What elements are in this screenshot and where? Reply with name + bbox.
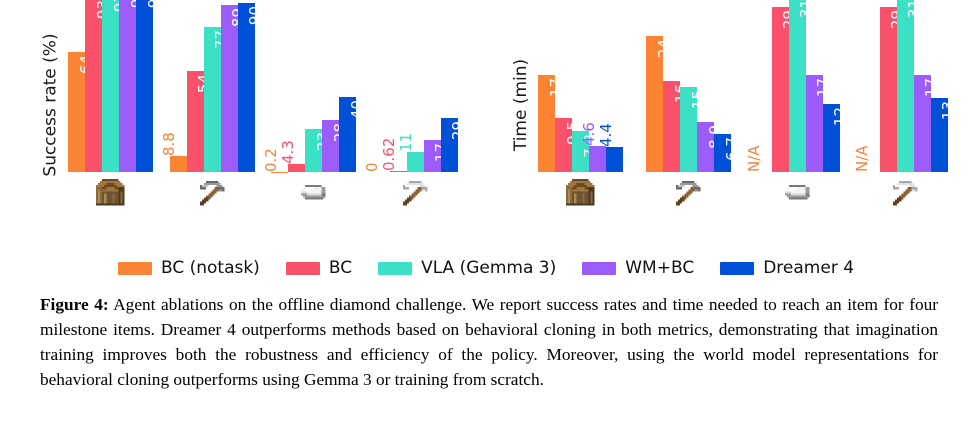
legend-swatch bbox=[720, 262, 754, 275]
bar-rect: 90 bbox=[238, 3, 255, 172]
bar-rect: 97 bbox=[102, 0, 119, 172]
legend-label: Dreamer 4 bbox=[763, 258, 854, 278]
bar-dreamer-4[interactable]: 12 bbox=[823, 0, 840, 172]
bar-rect: 11 bbox=[407, 152, 424, 173]
bar-group-bars: N/A29311712 bbox=[755, 0, 840, 172]
bar-rect: 54 bbox=[187, 71, 204, 173]
bar-vla-gemma-3-[interactable]: 15 bbox=[680, 0, 697, 172]
bar-bc[interactable]: 54 bbox=[187, 0, 204, 172]
bar-rect: 99 bbox=[119, 0, 136, 172]
bar-group-iron-pickaxe: N/A29311713 bbox=[863, 8, 948, 210]
bar-rect: 93 bbox=[85, 0, 102, 172]
bar-rect: 17 bbox=[424, 140, 441, 172]
time-chart: Time (min) 179.57.24.64.42416158.96.7N/A… bbox=[508, 0, 948, 250]
bar-rect: 89 bbox=[221, 5, 238, 172]
bar-group-bars: N/A29311713 bbox=[863, 0, 948, 172]
bar-rect: 4.3 bbox=[288, 164, 305, 172]
bar-rect: 0.62 bbox=[390, 171, 407, 172]
bar-group-bars: 0.24.3232840 bbox=[271, 0, 356, 172]
bar-vla-gemma-3-[interactable]: 11 bbox=[407, 0, 424, 172]
bar-bc[interactable]: 4.3 bbox=[288, 0, 305, 172]
bar-dreamer-4[interactable]: 13 bbox=[931, 0, 948, 172]
bar-group-iron-ingot: N/A29311712 bbox=[755, 8, 840, 210]
iron-pickaxe-icon bbox=[399, 177, 432, 210]
success-rate-chart: Success rate (%) 64939799998.8547789900.… bbox=[38, 0, 458, 250]
legend-label: VLA (Gemma 3) bbox=[421, 258, 556, 278]
bar-wm-bc[interactable]: 8.9 bbox=[697, 0, 714, 172]
figure-caption-text: Agent ablations on the offline diamond c… bbox=[40, 295, 938, 389]
bar-rect: 24 bbox=[646, 36, 663, 173]
bar-dreamer-4[interactable]: 29 bbox=[441, 0, 458, 172]
bar-vla-gemma-3-[interactable]: 31 bbox=[897, 0, 914, 172]
legend-item-bc-notask-[interactable]: BC (notask) bbox=[118, 258, 260, 278]
bar-rect: 4.4 bbox=[606, 147, 623, 172]
legend-swatch bbox=[286, 262, 320, 275]
bar-wm-bc[interactable]: 17 bbox=[806, 0, 823, 172]
bar-group-bars: 2416158.96.7 bbox=[646, 0, 731, 172]
bar-group-log: 179.57.24.64.4 bbox=[538, 8, 623, 210]
bar-value-label: 13 bbox=[939, 101, 957, 120]
legend-swatch bbox=[118, 262, 152, 275]
bar-rect: 23 bbox=[305, 129, 322, 172]
bar-value-label: N/A bbox=[745, 146, 763, 173]
bar-rect: 17 bbox=[538, 75, 555, 172]
iron-pickaxe-icon bbox=[889, 177, 922, 210]
bar-wm-bc[interactable]: 89 bbox=[221, 0, 238, 172]
figure-label: Figure 4: bbox=[40, 295, 109, 314]
bar-wm-bc[interactable]: 28 bbox=[322, 0, 339, 172]
bar-wm-bc[interactable]: 17 bbox=[914, 0, 931, 172]
bar-rect: 28 bbox=[322, 120, 339, 173]
bar-rect: 13 bbox=[931, 98, 948, 172]
bar-group-stone-pickaxe: 2416158.96.7 bbox=[646, 8, 731, 210]
bar-rect: 17 bbox=[914, 75, 931, 172]
bar-value-label: 4.4 bbox=[597, 123, 615, 147]
legend-item-dreamer-4[interactable]: Dreamer 4 bbox=[720, 258, 854, 278]
bar-group-bars: 00.62111729 bbox=[373, 0, 458, 172]
legend-swatch bbox=[378, 262, 412, 275]
bar-rect: 29 bbox=[772, 7, 789, 172]
success-rate-y-axis-label: Success rate (%) bbox=[38, 0, 64, 210]
bar-value-label: 0 bbox=[363, 163, 381, 173]
legend-item-bc[interactable]: BC bbox=[286, 258, 352, 278]
bar-value-label: 4.6 bbox=[580, 122, 598, 146]
bar-group-iron-ingot: 0.24.3232840 bbox=[271, 8, 356, 210]
bar-bc-notask-[interactable]: 17 bbox=[538, 0, 555, 172]
bar-vla-gemma-3-[interactable]: 23 bbox=[305, 0, 322, 172]
bar-group-bars: 6493979999 bbox=[68, 0, 153, 172]
bar-rect: 77 bbox=[204, 27, 221, 172]
bar-rect: 12 bbox=[823, 104, 840, 172]
bar-dreamer-4[interactable]: 6.7 bbox=[714, 0, 731, 172]
bar-bc-notask-[interactable]: N/A bbox=[755, 0, 772, 172]
bar-group-bars: 179.57.24.64.4 bbox=[538, 0, 623, 172]
bar-rect: 8.9 bbox=[697, 122, 714, 173]
log-icon bbox=[564, 177, 597, 210]
bar-dreamer-4[interactable]: 40 bbox=[339, 0, 356, 172]
time-groups: 179.57.24.64.42416158.96.7N/A29311712N/A… bbox=[538, 8, 948, 210]
iron-ingot-icon bbox=[297, 177, 330, 210]
figure-caption: Figure 4: Agent ablations on the offline… bbox=[40, 292, 938, 392]
bar-rect: 29 bbox=[880, 7, 897, 172]
bar-value-label: 40 bbox=[348, 100, 366, 119]
bar-rect: 99 bbox=[136, 0, 153, 172]
chart-legend: BC (notask)BCVLA (Gemma 3)WM+BCDreamer 4 bbox=[0, 252, 972, 284]
bar-value-label: N/A bbox=[853, 146, 871, 173]
log-icon bbox=[94, 177, 127, 210]
bar-rect: 6.7 bbox=[714, 134, 731, 172]
bar-value-label: 4.3 bbox=[279, 140, 297, 164]
bar-dreamer-4[interactable]: 99 bbox=[136, 0, 153, 172]
legend-label: BC bbox=[329, 258, 352, 278]
bar-rect: 8.8 bbox=[170, 156, 187, 173]
bar-group-bars: 8.854778990 bbox=[170, 0, 255, 172]
bar-rect: 29 bbox=[441, 118, 458, 173]
bar-bc[interactable]: 93 bbox=[85, 0, 102, 172]
bar-bc-notask-[interactable]: 64 bbox=[68, 0, 85, 172]
legend-label: BC (notask) bbox=[161, 258, 260, 278]
success-rate-groups: 64939799998.8547789900.24.323284000.6211… bbox=[68, 8, 458, 210]
bar-bc-notask-[interactable]: N/A bbox=[863, 0, 880, 172]
bar-group-iron-pickaxe: 00.62111729 bbox=[373, 8, 458, 210]
bar-rect: 17 bbox=[806, 75, 823, 172]
iron-ingot-icon bbox=[781, 177, 814, 210]
bar-value-label: 29 bbox=[449, 121, 467, 140]
bar-rect: 9.5 bbox=[555, 118, 572, 172]
bar-dreamer-4[interactable]: 4.4 bbox=[606, 0, 623, 172]
bar-wm-bc[interactable]: 17 bbox=[424, 0, 441, 172]
bar-value-label: 90 bbox=[246, 6, 264, 25]
bar-bc[interactable]: 29 bbox=[772, 0, 789, 172]
legend-swatch bbox=[582, 262, 616, 275]
bar-bc[interactable]: 29 bbox=[880, 0, 897, 172]
bar-vla-gemma-3-[interactable]: 77 bbox=[204, 0, 221, 172]
bar-value-label: 99 bbox=[145, 0, 163, 8]
bar-rect: 64 bbox=[68, 52, 85, 172]
bar-bc[interactable]: 16 bbox=[663, 0, 680, 172]
bar-bc-notask-[interactable]: 24 bbox=[646, 0, 663, 172]
bar-vla-gemma-3-[interactable]: 31 bbox=[789, 0, 806, 172]
bar-rect: 16 bbox=[663, 81, 680, 172]
legend-item-wm-bc[interactable]: WM+BC bbox=[582, 258, 694, 278]
bar-wm-bc[interactable]: 99 bbox=[119, 0, 136, 172]
bar-value-label: 12 bbox=[831, 107, 849, 126]
figure-4: Success rate (%) 64939799998.8547789900.… bbox=[0, 0, 972, 444]
bar-rect: 4.6 bbox=[589, 146, 606, 172]
bar-group-log: 6493979999 bbox=[68, 8, 153, 210]
bar-value-label: 0.62 bbox=[380, 138, 398, 171]
bar-value-label: 8.8 bbox=[160, 132, 178, 156]
bar-bc[interactable]: 9.5 bbox=[555, 0, 572, 172]
bar-value-label: 0.2 bbox=[262, 148, 280, 172]
bar-bc-notask-[interactable]: 8.8 bbox=[170, 0, 187, 172]
legend-item-vla-gemma-3-[interactable]: VLA (Gemma 3) bbox=[378, 258, 556, 278]
bar-vla-gemma-3-[interactable]: 7.2 bbox=[572, 0, 589, 172]
bar-rect: 31 bbox=[897, 0, 914, 172]
bar-rect: 15 bbox=[680, 87, 697, 173]
legend-label: WM+BC bbox=[625, 258, 694, 278]
bar-rect: 31 bbox=[789, 0, 806, 172]
bar-value-label: 6.7 bbox=[723, 137, 741, 161]
stone-pickaxe-icon bbox=[196, 177, 229, 210]
bar-rect: 40 bbox=[339, 97, 356, 172]
bar-value-label: 11 bbox=[397, 132, 415, 151]
stone-pickaxe-icon bbox=[672, 177, 705, 210]
bar-vla-gemma-3-[interactable]: 97 bbox=[102, 0, 119, 172]
time-y-axis-label: Time (min) bbox=[508, 0, 534, 210]
bar-dreamer-4[interactable]: 90 bbox=[238, 0, 255, 172]
bar-group-stone-pickaxe: 8.854778990 bbox=[170, 8, 255, 210]
